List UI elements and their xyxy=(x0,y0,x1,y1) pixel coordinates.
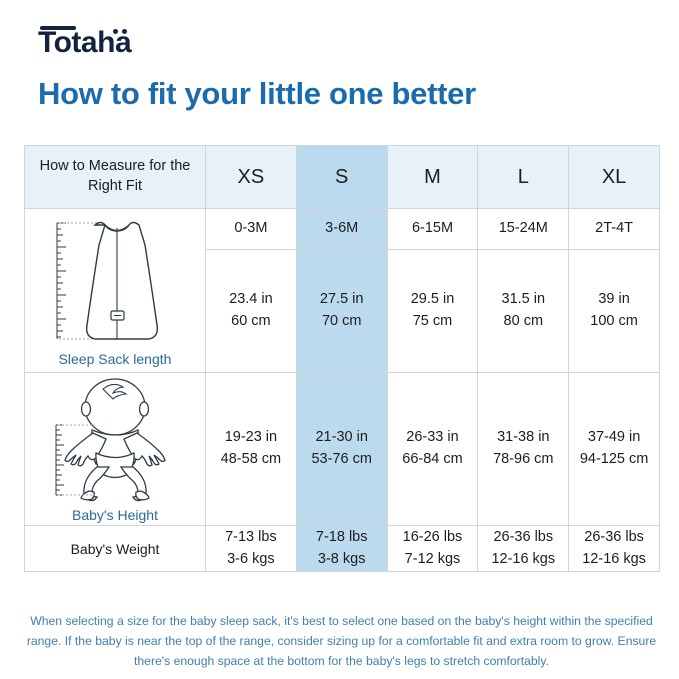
cell-height-xs: 19-23 in 48-58 cm xyxy=(206,373,297,526)
header-size-m: M xyxy=(387,146,478,209)
cell-weight-xl: 26-36 lbs 12-16 kgs xyxy=(569,526,660,572)
page-title: How to fit your little one better xyxy=(38,77,476,111)
cell-length-xs-cm: 60 cm xyxy=(206,311,296,333)
cell-height-s-cm: 53-76 cm xyxy=(297,449,387,471)
cell-weight-l-kgs: 12-16 kgs xyxy=(478,549,568,571)
cell-weight-l-lbs: 26-36 lbs xyxy=(478,527,568,549)
size-chart-table: How to Measure for the Right Fit XS S M … xyxy=(24,145,660,572)
cell-height-xl: 37-49 in 94-125 cm xyxy=(569,373,660,526)
cell-weight-xs-kgs: 3-6 kgs xyxy=(206,549,296,571)
cell-length-xl-cm: 100 cm xyxy=(569,311,659,333)
cell-length-m-in: 29.5 in xyxy=(388,289,478,311)
baby-icon xyxy=(35,375,195,503)
cell-age-xs: 0-3M xyxy=(206,209,297,250)
table-row-baby-weight: Baby's Weight 7-13 lbs 3-6 kgs 7-18 lbs … xyxy=(25,526,660,572)
umlaut-icon xyxy=(111,29,130,36)
cell-weight-s-lbs: 7-18 lbs xyxy=(297,527,387,549)
table-row-age: Sleep Sack length 0-3M 3-6M 6-15M 15-24M… xyxy=(25,209,660,250)
cell-height-l-cm: 78-96 cm xyxy=(478,449,568,471)
cell-weight-l: 26-36 lbs 12-16 kgs xyxy=(478,526,569,572)
footer-note: When selecting a size for the baby sleep… xyxy=(24,612,659,671)
cell-age-l: 15-24M xyxy=(478,209,569,250)
cell-length-xs-in: 23.4 in xyxy=(206,289,296,311)
cell-weight-s: 7-18 lbs 3-8 kgs xyxy=(296,526,387,572)
cell-age-s: 3-6M xyxy=(296,209,387,250)
cell-length-m: 29.5 in 75 cm xyxy=(387,250,478,373)
brand-logo: Totaha xyxy=(38,28,131,58)
header-size-xl: XL xyxy=(569,146,660,209)
sleep-sack-illustration-cell: Sleep Sack length xyxy=(25,209,206,373)
cell-height-m-cm: 66-84 cm xyxy=(388,449,478,471)
cell-length-m-cm: 75 cm xyxy=(388,311,478,333)
cell-height-xs-in: 19-23 in xyxy=(206,427,296,449)
logo-overbar xyxy=(40,26,76,30)
header-size-xs: XS xyxy=(206,146,297,209)
cell-weight-xs: 7-13 lbs 3-6 kgs xyxy=(206,526,297,572)
baby-weight-label: Baby's Weight xyxy=(25,526,206,572)
cell-weight-s-kgs: 3-8 kgs xyxy=(297,549,387,571)
cell-weight-m-lbs: 16-26 lbs xyxy=(388,527,478,549)
cell-length-xs: 23.4 in 60 cm xyxy=(206,250,297,373)
cell-height-xl-cm: 94-125 cm xyxy=(569,449,659,471)
cell-height-m: 26-33 in 66-84 cm xyxy=(387,373,478,526)
cell-length-l-cm: 80 cm xyxy=(478,311,568,333)
table-row-baby-height: Baby's Height 19-23 in 48-58 cm 21-30 in… xyxy=(25,373,660,526)
cell-height-xs-cm: 48-58 cm xyxy=(206,449,296,471)
cell-length-l: 31.5 in 80 cm xyxy=(478,250,569,373)
cell-weight-xs-lbs: 7-13 lbs xyxy=(206,527,296,549)
cell-length-xl: 39 in 100 cm xyxy=(569,250,660,373)
cell-age-m: 6-15M xyxy=(387,209,478,250)
cell-height-m-in: 26-33 in xyxy=(388,427,478,449)
cell-length-xl-in: 39 in xyxy=(569,289,659,311)
cell-weight-xl-kgs: 12-16 kgs xyxy=(569,549,659,571)
cell-height-s-in: 21-30 in xyxy=(297,427,387,449)
cell-age-xl: 2T-4T xyxy=(569,209,660,250)
cell-length-s: 27.5 in 70 cm xyxy=(296,250,387,373)
header-size-l: L xyxy=(478,146,569,209)
cell-height-l: 31-38 in 78-96 cm xyxy=(478,373,569,526)
baby-height-caption: Baby's Height xyxy=(72,507,158,523)
header-measure-label: How to Measure for the Right Fit xyxy=(25,146,206,209)
baby-illustration-cell: Baby's Height xyxy=(25,373,206,526)
header-size-s: S xyxy=(296,146,387,209)
cell-height-xl-in: 37-49 in xyxy=(569,427,659,449)
brand-name: Totah xyxy=(38,26,115,59)
cell-length-l-in: 31.5 in xyxy=(478,289,568,311)
table-header-row: How to Measure for the Right Fit XS S M … xyxy=(25,146,660,209)
cell-weight-m-kgs: 7-12 kgs xyxy=(388,549,478,571)
cell-length-s-in: 27.5 in xyxy=(297,289,387,311)
cell-length-s-cm: 70 cm xyxy=(297,311,387,333)
cell-height-s: 21-30 in 53-76 cm xyxy=(296,373,387,526)
cell-weight-m: 16-26 lbs 7-12 kgs xyxy=(387,526,478,572)
cell-height-l-in: 31-38 in xyxy=(478,427,568,449)
cell-weight-xl-lbs: 26-36 lbs xyxy=(569,527,659,549)
sleep-sack-caption: Sleep Sack length xyxy=(59,351,172,367)
sleep-sack-icon xyxy=(35,215,195,347)
